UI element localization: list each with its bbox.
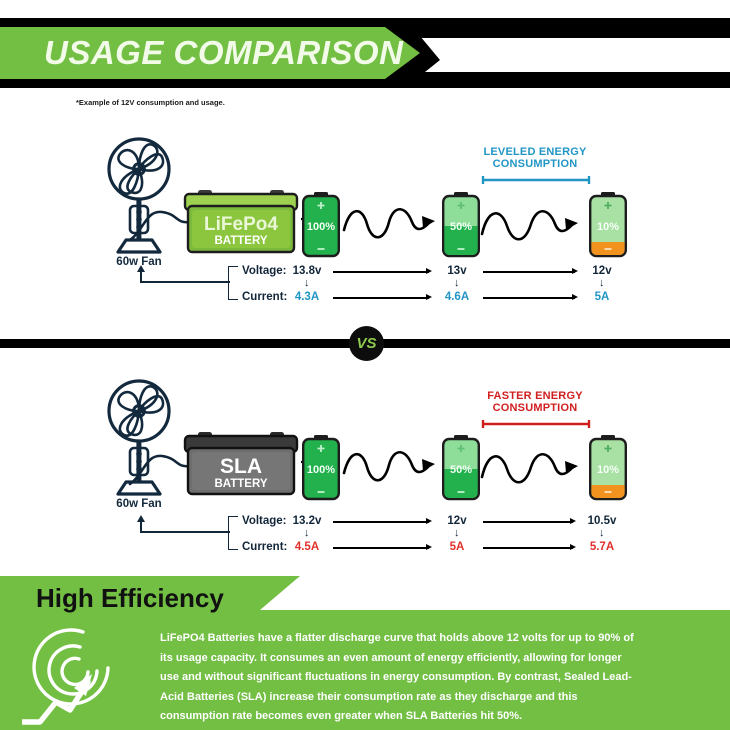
cline-a-sla (333, 547, 429, 549)
varrow-a-lifepo4 (426, 268, 432, 274)
page-title: USAGE COMPARISON (44, 31, 404, 75)
energy-wave-1-lifepo4 (342, 194, 442, 250)
vline-b-lifepo4 (483, 271, 575, 273)
voltage-value-2-lifepo4: 13v (435, 265, 479, 277)
energy-wave-1-sla (342, 437, 442, 493)
vline-a-lifepo4 (333, 271, 429, 273)
battery-name-sla: SLA (220, 455, 262, 478)
callout-sla: FASTER ENERGY CONSUMPTION (475, 390, 595, 415)
callout-line2-sla: CONSUMPTION (475, 402, 595, 414)
cline-b-sla (483, 547, 573, 549)
svg-text:50%: 50% (450, 221, 472, 233)
footer-notch (260, 576, 730, 610)
battery-cell-10-sla: 10% (588, 435, 626, 501)
svg-text:10%: 10% (597, 221, 619, 233)
current-label-sla: Current: (242, 541, 287, 553)
callout-bracket-lifepo4 (481, 174, 591, 186)
svg-text:100%: 100% (307, 464, 335, 476)
carrow-b-sla (570, 544, 576, 550)
callout-line1-lifepo4: LEVELED ENERGY (475, 146, 595, 158)
svg-text:50%: 50% (450, 464, 472, 476)
battery-sub-sla: BATTERY (214, 478, 267, 490)
down-arrow-1-sla: ↓ (304, 528, 310, 539)
down-arrow-3-sla: ↓ (599, 528, 605, 539)
varrow-a-sla (426, 518, 432, 524)
current-value-1-sla: 4.5A (285, 541, 329, 553)
down-arrow-3-lifepo4: ↓ (599, 278, 605, 289)
current-value-2-sla: 5A (435, 541, 479, 553)
battery-cell-100-lifepo4: 100% (301, 192, 339, 258)
carrow-a-sla (426, 544, 432, 550)
voltage-value-2-sla: 12v (435, 515, 479, 527)
fan-label-sla: 60w Fan (84, 498, 194, 510)
current-value-1-lifepo4: 4.3A (285, 291, 329, 303)
voltage-value-1-sla: 13.2v (285, 515, 329, 527)
current-value-3-sla: 5.7A (578, 541, 626, 553)
voltage-value-1-lifepo4: 13.8v (285, 265, 329, 277)
down-arrow-2-lifepo4: ↓ (454, 278, 460, 289)
voltage-label-lifepo4: Voltage: (242, 265, 287, 277)
callout-lifepo4: LEVELED ENERGY CONSUMPTION (475, 146, 595, 171)
callout-line1-sla: FASTER ENERGY (475, 390, 595, 402)
footer-body-text: LiFePO4 Batteries have a flatter dischar… (160, 629, 638, 727)
svg-text:100%: 100% (307, 221, 335, 233)
feedline-h-lifepo4 (140, 281, 230, 283)
footer-title: High Efficiency (36, 583, 224, 614)
battery-cell-100-sla: 100% (301, 435, 339, 501)
current-value-3-lifepo4: 5A (580, 291, 624, 303)
varrow-b-lifepo4 (572, 268, 578, 274)
stats-bracket-lifepo4 (228, 266, 238, 300)
current-label-lifepo4: Current: (242, 291, 287, 303)
down-arrow-2-sla: ↓ (454, 528, 460, 539)
energy-wave-2-sla (480, 437, 588, 493)
feedline-v-sla (140, 522, 142, 532)
voltage-label-sla: Voltage: (242, 515, 287, 527)
energy-wave-2-lifepo4 (480, 194, 588, 250)
stats-bracket-sla (228, 516, 238, 550)
voltage-value-3-sla: 10.5v (578, 515, 626, 527)
feedline-v-lifepo4 (140, 272, 142, 282)
efficiency-target-icon (22, 616, 152, 730)
feedline-arrow-lifepo4 (137, 265, 145, 272)
battery-name-lifepo4: LiFePo4 (204, 214, 278, 235)
cline-a-lifepo4 (333, 297, 429, 299)
battery-sla: SLA BATTERY (182, 430, 300, 498)
cline-b-lifepo4 (483, 297, 575, 299)
svg-text:10%: 10% (597, 464, 619, 476)
varrow-b-sla (570, 518, 576, 524)
carrow-b-lifepo4 (572, 294, 578, 300)
vline-b-sla (483, 521, 573, 523)
battery-cell-10-lifepo4: 10% (588, 192, 626, 258)
voltage-value-3-lifepo4: 12v (580, 265, 624, 277)
battery-sub-lifepo4: BATTERY (214, 235, 267, 247)
callout-line2-lifepo4: CONSUMPTION (475, 158, 595, 170)
header-footnote: *Example of 12V consumption and usage. (76, 98, 225, 107)
feedline-h-sla (140, 531, 230, 533)
infographic-page: USAGE COMPARISON *Example of 12V consump… (0, 0, 730, 730)
battery-lifepo4: LiFePo4 BATTERY (182, 188, 300, 256)
battery-cell-50-sla: 50% (441, 435, 479, 501)
carrow-a-lifepo4 (426, 294, 432, 300)
callout-bracket-sla (481, 418, 591, 430)
vs-badge: VS (349, 326, 384, 361)
vline-a-sla (333, 521, 429, 523)
current-value-2-lifepo4: 4.6A (435, 291, 479, 303)
battery-cell-50-lifepo4: 50% (441, 192, 479, 258)
feedline-arrow-sla (137, 515, 145, 522)
down-arrow-1-lifepo4: ↓ (304, 278, 310, 289)
